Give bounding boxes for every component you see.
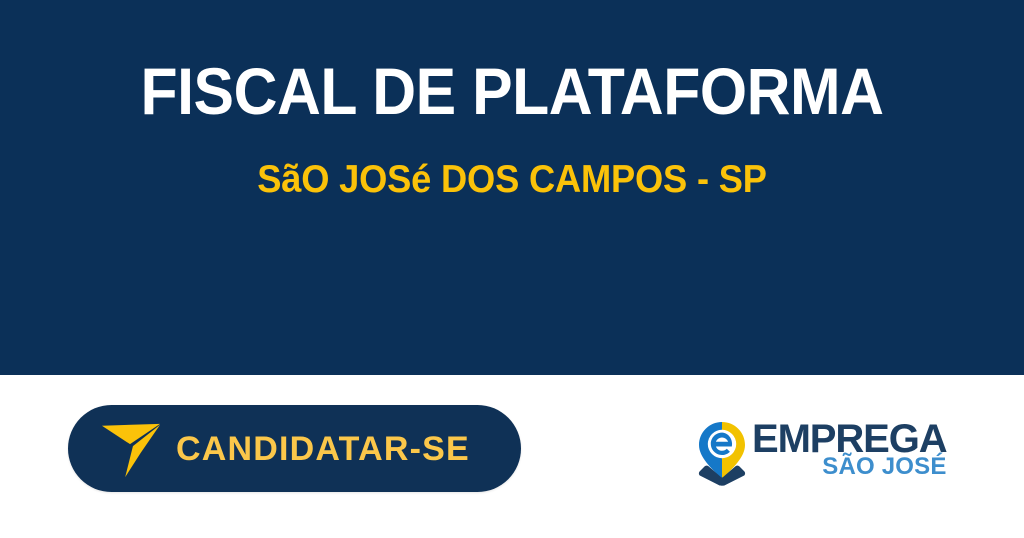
job-vacancy-card: FISCAL DE PLATAFORMA SãO JOSé DOS CAMPOS… xyxy=(0,0,1024,538)
apply-button-label: CANDIDATAR-SE xyxy=(176,432,470,466)
send-icon-wrapper xyxy=(68,418,176,480)
send-icon xyxy=(100,418,162,480)
hero-text-block: FISCAL DE PLATAFORMA SãO JOSé DOS CAMPOS… xyxy=(0,0,1024,199)
page-title: FISCAL DE PLATAFORMA xyxy=(41,58,983,124)
brand-wordmark: EMPREGA SÃO JOSÉ xyxy=(752,419,947,479)
job-location-subtitle: SãO JOSé DOS CAMPOS - SP xyxy=(36,124,988,199)
footer-bar: CANDIDATAR-SE xyxy=(0,375,1024,538)
brand-logo[interactable]: EMPREGA SÃO JOSÉ xyxy=(698,419,930,491)
hero-banner: FISCAL DE PLATAFORMA SãO JOSé DOS CAMPOS… xyxy=(0,0,1024,375)
map-pin-icon xyxy=(698,421,746,487)
apply-button[interactable]: CANDIDATAR-SE xyxy=(68,405,521,492)
